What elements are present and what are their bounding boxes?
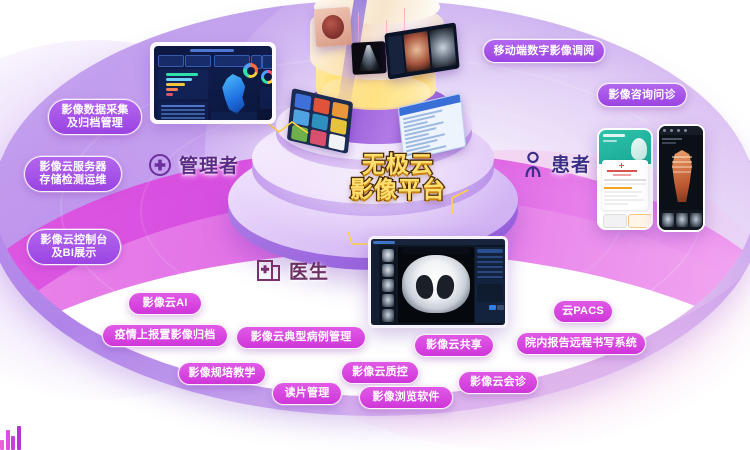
pill-training-teaching[interactable]: 影像规培教学 bbox=[178, 362, 266, 385]
pill-typical-cases[interactable]: 影像云典型病例管理 bbox=[236, 326, 366, 349]
pill-mobile-image-retrieval[interactable]: 移动端数字影像调阅 bbox=[483, 39, 605, 63]
3d-skeleton-render bbox=[669, 150, 695, 202]
pill-image-viewer[interactable]: 影像浏览软件 bbox=[359, 386, 453, 409]
pill-epidemic-report[interactable]: 疫情上报置影像归档 bbox=[102, 324, 228, 347]
pill-cloud-sharing[interactable]: 影像云共享 bbox=[414, 334, 494, 357]
pill-film-reading[interactable]: 读片管理 bbox=[272, 382, 342, 405]
medical-cross-circle-icon bbox=[148, 153, 172, 177]
pill-remote-reporting[interactable]: 院内报告远程书写系统 bbox=[516, 332, 646, 355]
pill-cloud-ai[interactable]: 影像云AI bbox=[128, 292, 202, 315]
bi-dashboard-monitor bbox=[150, 42, 276, 124]
pacs-screen bbox=[371, 239, 505, 325]
report-plus-icon bbox=[256, 258, 282, 284]
ultrasound-thumbnail bbox=[351, 41, 387, 75]
role-patient[interactable]: 患者 bbox=[522, 150, 591, 177]
pill-data-collection[interactable]: 影像数据采集 及归档管理 bbox=[48, 99, 142, 135]
3d-imaging-phone bbox=[657, 124, 705, 232]
endoscopy-thumbnail bbox=[314, 7, 353, 47]
role-admin[interactable]: 管理者 bbox=[148, 151, 239, 178]
role-admin-label: 管理者 bbox=[179, 151, 239, 178]
role-doctor[interactable]: 医生 bbox=[256, 257, 329, 284]
phone-a-action-1[interactable] bbox=[603, 214, 627, 228]
pill-image-consultation[interactable]: 影像咨询问诊 bbox=[597, 83, 687, 107]
pill-console-bi[interactable]: 影像云控制台 及BI展示 bbox=[27, 229, 121, 265]
pill-cloud-consult[interactable]: 影像云会诊 bbox=[458, 371, 538, 394]
platform-title-line1: 无极云 bbox=[332, 152, 464, 177]
role-doctor-label: 医生 bbox=[289, 257, 329, 284]
bar-chart-hologram bbox=[0, 0, 22, 26]
pill-quality-control[interactable]: 影像云质控 bbox=[341, 361, 419, 384]
bi-dashboard-screen bbox=[154, 46, 272, 120]
platform-title-line2: 影像平台 bbox=[332, 177, 464, 202]
person-icon bbox=[522, 151, 544, 177]
pacs-ct-viewer bbox=[368, 236, 508, 328]
platform-title: 无极云 影像平台 bbox=[332, 152, 464, 202]
phone-a-doctor-illustration bbox=[631, 138, 647, 160]
phone-a-action-2[interactable] bbox=[628, 214, 652, 228]
patient-report-phone bbox=[597, 128, 653, 230]
dashboard-donut-2-hole bbox=[247, 67, 255, 75]
pill-server-ops[interactable]: 影像云服务器 存储检测运维 bbox=[24, 156, 122, 192]
pill-cloud-pacs[interactable]: 云PACS bbox=[553, 300, 613, 323]
infographic-canvas: 无极云 影像平台 管理者 患者 医生 影像数据采集 及归档管理 影像云服务器 存… bbox=[0, 0, 750, 450]
role-patient-label: 患者 bbox=[551, 150, 591, 177]
